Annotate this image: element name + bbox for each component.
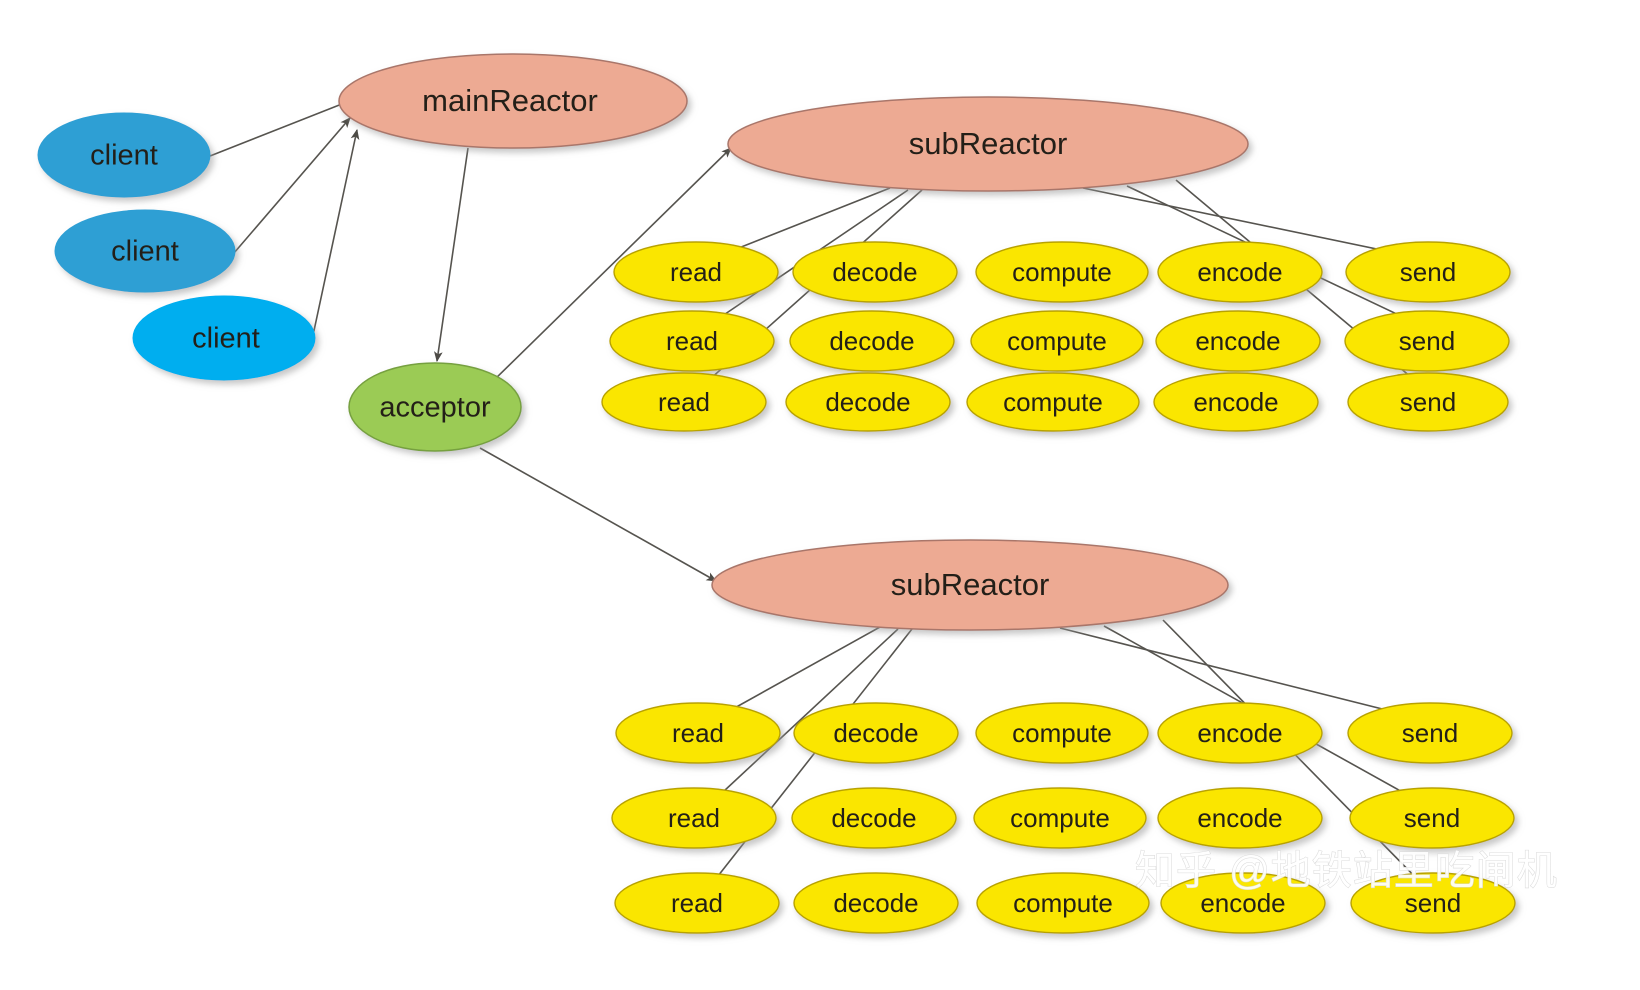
worker-node-compute[interactable]: compute	[974, 788, 1146, 848]
worker-node-send[interactable]: send	[1350, 788, 1514, 848]
worker-label-encode: encode	[1195, 326, 1280, 356]
worker-node-encode[interactable]: encode	[1158, 703, 1322, 763]
sub-reactor-1-label: subReactor	[909, 126, 1068, 161]
worker-label-encode: encode	[1197, 257, 1282, 287]
worker-label-decode: decode	[825, 387, 910, 417]
worker-node-send[interactable]: send	[1346, 242, 1510, 302]
worker-node-read[interactable]: read	[610, 311, 774, 371]
worker-label-read: read	[668, 803, 720, 833]
worker-row-top-3: read decode compute encode send	[602, 373, 1508, 431]
reactor-diagram: client client client mainReactor accepto…	[0, 0, 1640, 990]
node-client-2[interactable]: client	[55, 210, 235, 292]
worker-label-decode: decode	[833, 888, 918, 918]
main-reactor-label: mainReactor	[422, 83, 598, 118]
watermark-label: 知乎 @地铁站里吃闸机	[1135, 849, 1558, 893]
worker-node-decode[interactable]: decode	[792, 788, 956, 848]
node-client-1[interactable]: client	[38, 113, 210, 197]
worker-label-send: send	[1402, 718, 1458, 748]
worker-label-compute: compute	[1010, 803, 1110, 833]
worker-node-compute[interactable]: compute	[967, 373, 1139, 431]
client-3-label: client	[192, 323, 260, 355]
worker-label-compute: compute	[1003, 387, 1103, 417]
worker-node-encode[interactable]: encode	[1158, 788, 1322, 848]
worker-node-encode[interactable]: encode	[1158, 242, 1322, 302]
worker-row-top-1: read decode compute encode send	[614, 242, 1510, 302]
edge-layer	[210, 100, 1427, 890]
worker-node-compute[interactable]: compute	[971, 311, 1143, 371]
worker-label-read: read	[670, 257, 722, 287]
edge-acceptor-to-subreactor2	[480, 448, 716, 581]
client-2-label: client	[111, 236, 179, 268]
sub-reactor-2-label: subReactor	[891, 567, 1050, 602]
reactor-diagram-canvas: client client client mainReactor accepto…	[0, 0, 1640, 990]
worker-label-decode: decode	[832, 257, 917, 287]
worker-label-send: send	[1400, 387, 1456, 417]
worker-label-read: read	[671, 888, 723, 918]
edge-mainreactor-to-acceptor	[437, 148, 468, 361]
worker-node-compute[interactable]: compute	[976, 703, 1148, 763]
worker-grid-top: read decode compute encode send	[602, 242, 1510, 431]
worker-label-compute: compute	[1012, 718, 1112, 748]
worker-label-decode: decode	[829, 326, 914, 356]
worker-node-read[interactable]: read	[615, 873, 779, 933]
acceptor-label: acceptor	[379, 392, 491, 424]
worker-node-encode[interactable]: encode	[1156, 311, 1320, 371]
node-sub-reactor-1[interactable]: subReactor	[728, 97, 1248, 191]
worker-label-encode: encode	[1197, 718, 1282, 748]
worker-node-decode[interactable]: decode	[790, 311, 954, 371]
worker-node-read[interactable]: read	[602, 373, 766, 431]
worker-node-compute[interactable]: compute	[976, 242, 1148, 302]
worker-node-decode[interactable]: decode	[794, 873, 958, 933]
worker-node-send[interactable]: send	[1345, 311, 1509, 371]
worker-node-compute[interactable]: compute	[977, 873, 1149, 933]
node-sub-reactor-2[interactable]: subReactor	[712, 540, 1228, 630]
worker-node-encode[interactable]: encode	[1154, 373, 1318, 431]
node-client-3[interactable]: client	[133, 296, 315, 380]
worker-node-decode[interactable]: decode	[794, 703, 958, 763]
worker-label-encode: encode	[1197, 803, 1282, 833]
worker-label-decode: decode	[831, 803, 916, 833]
client-1-label: client	[90, 140, 158, 172]
worker-row-bottom-1: read decode compute encode send	[616, 703, 1512, 763]
worker-grid-bottom: read decode compute encode send	[612, 703, 1515, 933]
worker-row-bottom-2: read decode compute encode send	[612, 788, 1514, 848]
worker-label-decode: decode	[833, 718, 918, 748]
worker-node-send[interactable]: send	[1348, 373, 1508, 431]
node-acceptor[interactable]: acceptor	[349, 363, 521, 451]
worker-label-send: send	[1404, 803, 1460, 833]
node-main-reactor[interactable]: mainReactor	[339, 54, 687, 148]
edge-client2-to-mainreactor	[234, 118, 350, 253]
worker-label-read: read	[658, 387, 710, 417]
worker-label-compute: compute	[1007, 326, 1107, 356]
worker-node-decode[interactable]: decode	[786, 373, 950, 431]
worker-label-compute: compute	[1013, 888, 1113, 918]
worker-node-send[interactable]: send	[1348, 703, 1512, 763]
client-group: client client client	[38, 113, 315, 380]
worker-label-send: send	[1400, 257, 1456, 287]
worker-node-read[interactable]: read	[614, 242, 778, 302]
worker-label-compute: compute	[1012, 257, 1112, 287]
edge-client3-to-mainreactor	[312, 130, 357, 340]
worker-node-read[interactable]: read	[612, 788, 776, 848]
worker-label-send: send	[1399, 326, 1455, 356]
worker-label-encode: encode	[1193, 387, 1278, 417]
worker-node-read[interactable]: read	[616, 703, 780, 763]
worker-label-read: read	[672, 718, 724, 748]
edge-client1-to-mainreactor	[210, 100, 352, 156]
worker-label-read: read	[666, 326, 718, 356]
worker-node-decode[interactable]: decode	[793, 242, 957, 302]
worker-row-top-2: read decode compute encode send	[610, 311, 1509, 371]
